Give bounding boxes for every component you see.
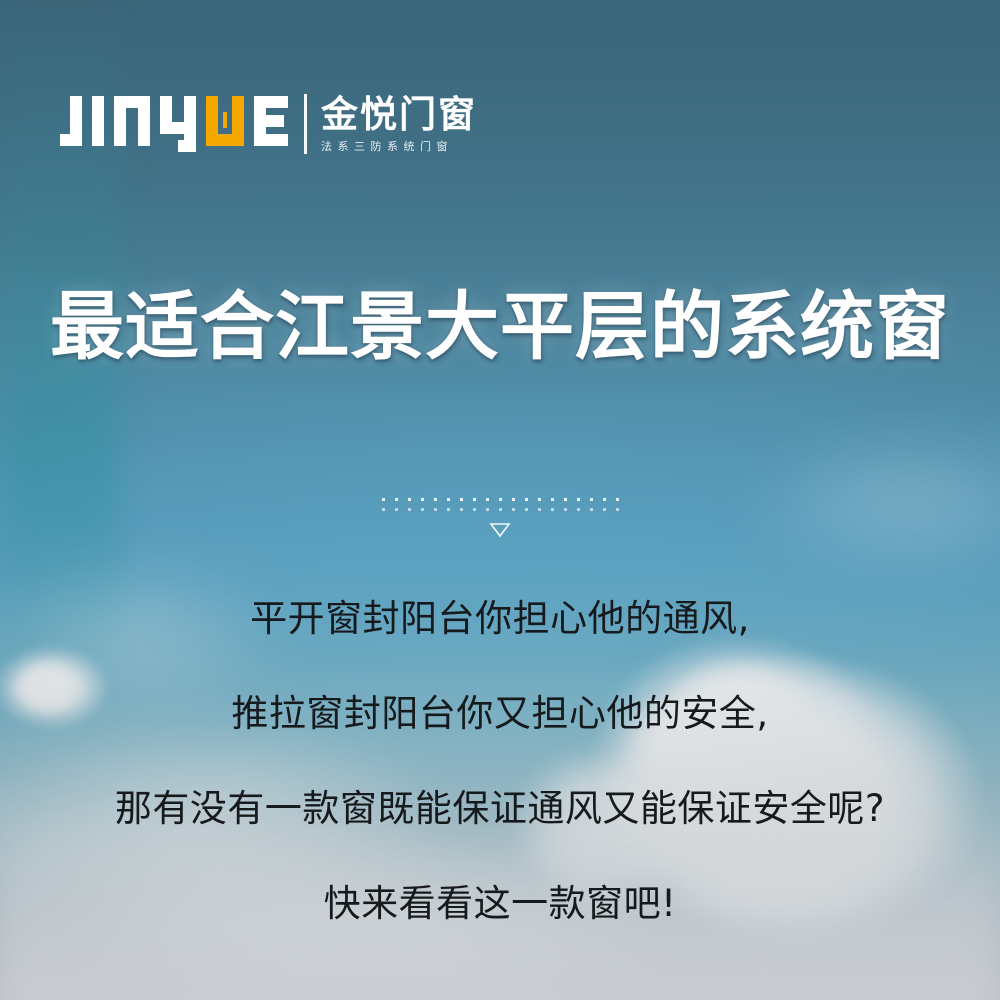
- divider-dot: [486, 508, 489, 511]
- decorative-divider: [0, 498, 1000, 543]
- divider-dot: [577, 508, 580, 511]
- divider-dot-row: [382, 508, 619, 511]
- body-line-1: 平开窗封阳台你担心他的通风,: [0, 600, 1000, 637]
- divider-dot: [408, 498, 411, 501]
- divider-dot: [382, 508, 385, 511]
- brand-logo: 金悦门窗 法系三防系统门窗: [60, 92, 477, 156]
- divider-dot: [486, 498, 489, 501]
- poster-canvas: 金悦门窗 法系三防系统门窗 最适合江景大平层的系统窗 平开窗封阳台你担心他的通风…: [0, 0, 1000, 1000]
- divider-dot: [512, 498, 515, 501]
- page-title: 最适合江景大平层的系统窗: [0, 288, 1000, 366]
- divider-dot: [473, 498, 476, 501]
- divider-dot: [421, 498, 424, 501]
- brand-tagline: 法系三防系统门窗: [321, 141, 477, 152]
- divider-dot: [551, 508, 554, 511]
- divider-dot: [408, 508, 411, 511]
- divider-dot: [382, 498, 385, 501]
- divider-dot: [603, 498, 606, 501]
- divider-dot: [551, 498, 554, 501]
- body-line-2: 推拉窗封阳台你又担心他的安全,: [0, 695, 1000, 732]
- divider-dot: [603, 508, 606, 511]
- body-line-3: 那有没有一款窗既能保证通风又能保证安全呢?: [0, 790, 1000, 827]
- divider-dot: [499, 498, 502, 501]
- divider-dot: [460, 508, 463, 511]
- brand-wordmark-latin: [60, 96, 288, 152]
- divider-dot: [525, 508, 528, 511]
- divider-dot: [538, 498, 541, 501]
- divider-dot: [421, 508, 424, 511]
- divider-dot: [460, 498, 463, 501]
- divider-dot: [564, 498, 567, 501]
- brand-name-cn: 金悦门窗: [321, 96, 477, 135]
- divider-dot: [499, 508, 502, 511]
- divider-dot: [512, 508, 515, 511]
- divider-dot: [590, 498, 593, 501]
- divider-dot: [538, 508, 541, 511]
- divider-dot: [525, 498, 528, 501]
- body-copy: 平开窗封阳台你担心他的通风, 推拉窗封阳台你又担心他的安全, 那有没有一款窗既能…: [0, 600, 1000, 922]
- divider-dot: [447, 508, 450, 511]
- divider-dot: [395, 498, 398, 501]
- divider-dot: [564, 508, 567, 511]
- triangle-down-icon: [489, 522, 511, 543]
- divider-dot-row: [382, 498, 619, 501]
- divider-dot: [577, 498, 580, 501]
- divider-dot: [616, 508, 619, 511]
- body-line-4: 快来看看这一款窗吧!: [0, 885, 1000, 922]
- divider-dot-grid: [382, 498, 619, 511]
- divider-dot: [434, 498, 437, 501]
- divider-dot: [590, 508, 593, 511]
- divider-dot: [447, 498, 450, 501]
- logo-divider-rule: [304, 94, 307, 154]
- divider-dot: [616, 498, 619, 501]
- brand-wordmark-cn: 金悦门窗 法系三防系统门窗: [321, 96, 477, 153]
- divider-dot: [395, 508, 398, 511]
- divider-dot: [473, 508, 476, 511]
- divider-dot: [434, 508, 437, 511]
